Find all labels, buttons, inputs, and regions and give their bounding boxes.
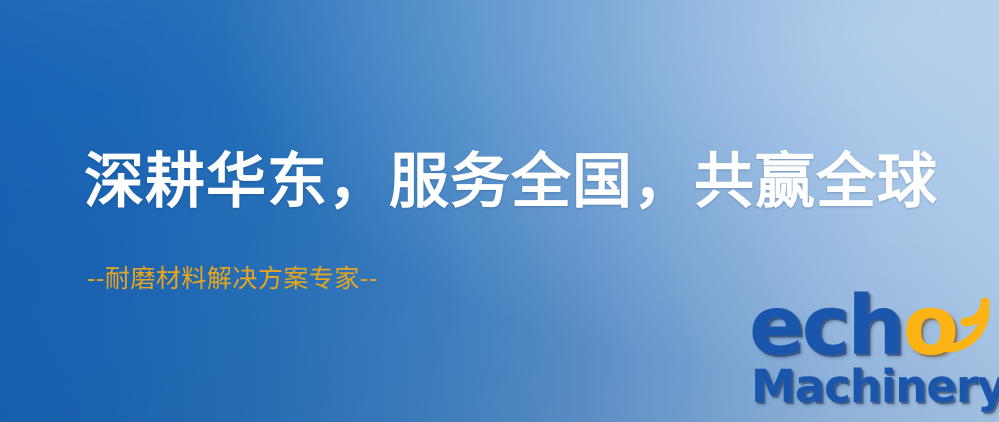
hero-banner: 深耕华东，服务全国，共赢全球 --耐磨材料解决方案专家-- echo Machi… [0,0,999,422]
page-title: 深耕华东，服务全国，共赢全球 [84,152,938,212]
company-logo[interactable]: echo Machinery® [745,292,999,422]
signal-waves-icon [941,294,999,356]
page-subtitle: --耐磨材料解决方案专家-- [87,266,378,291]
logo-brand-text: Machinery [751,360,999,413]
logo-brand-line: Machinery® [751,364,999,409]
logo-echo-text: echo [749,286,956,368]
